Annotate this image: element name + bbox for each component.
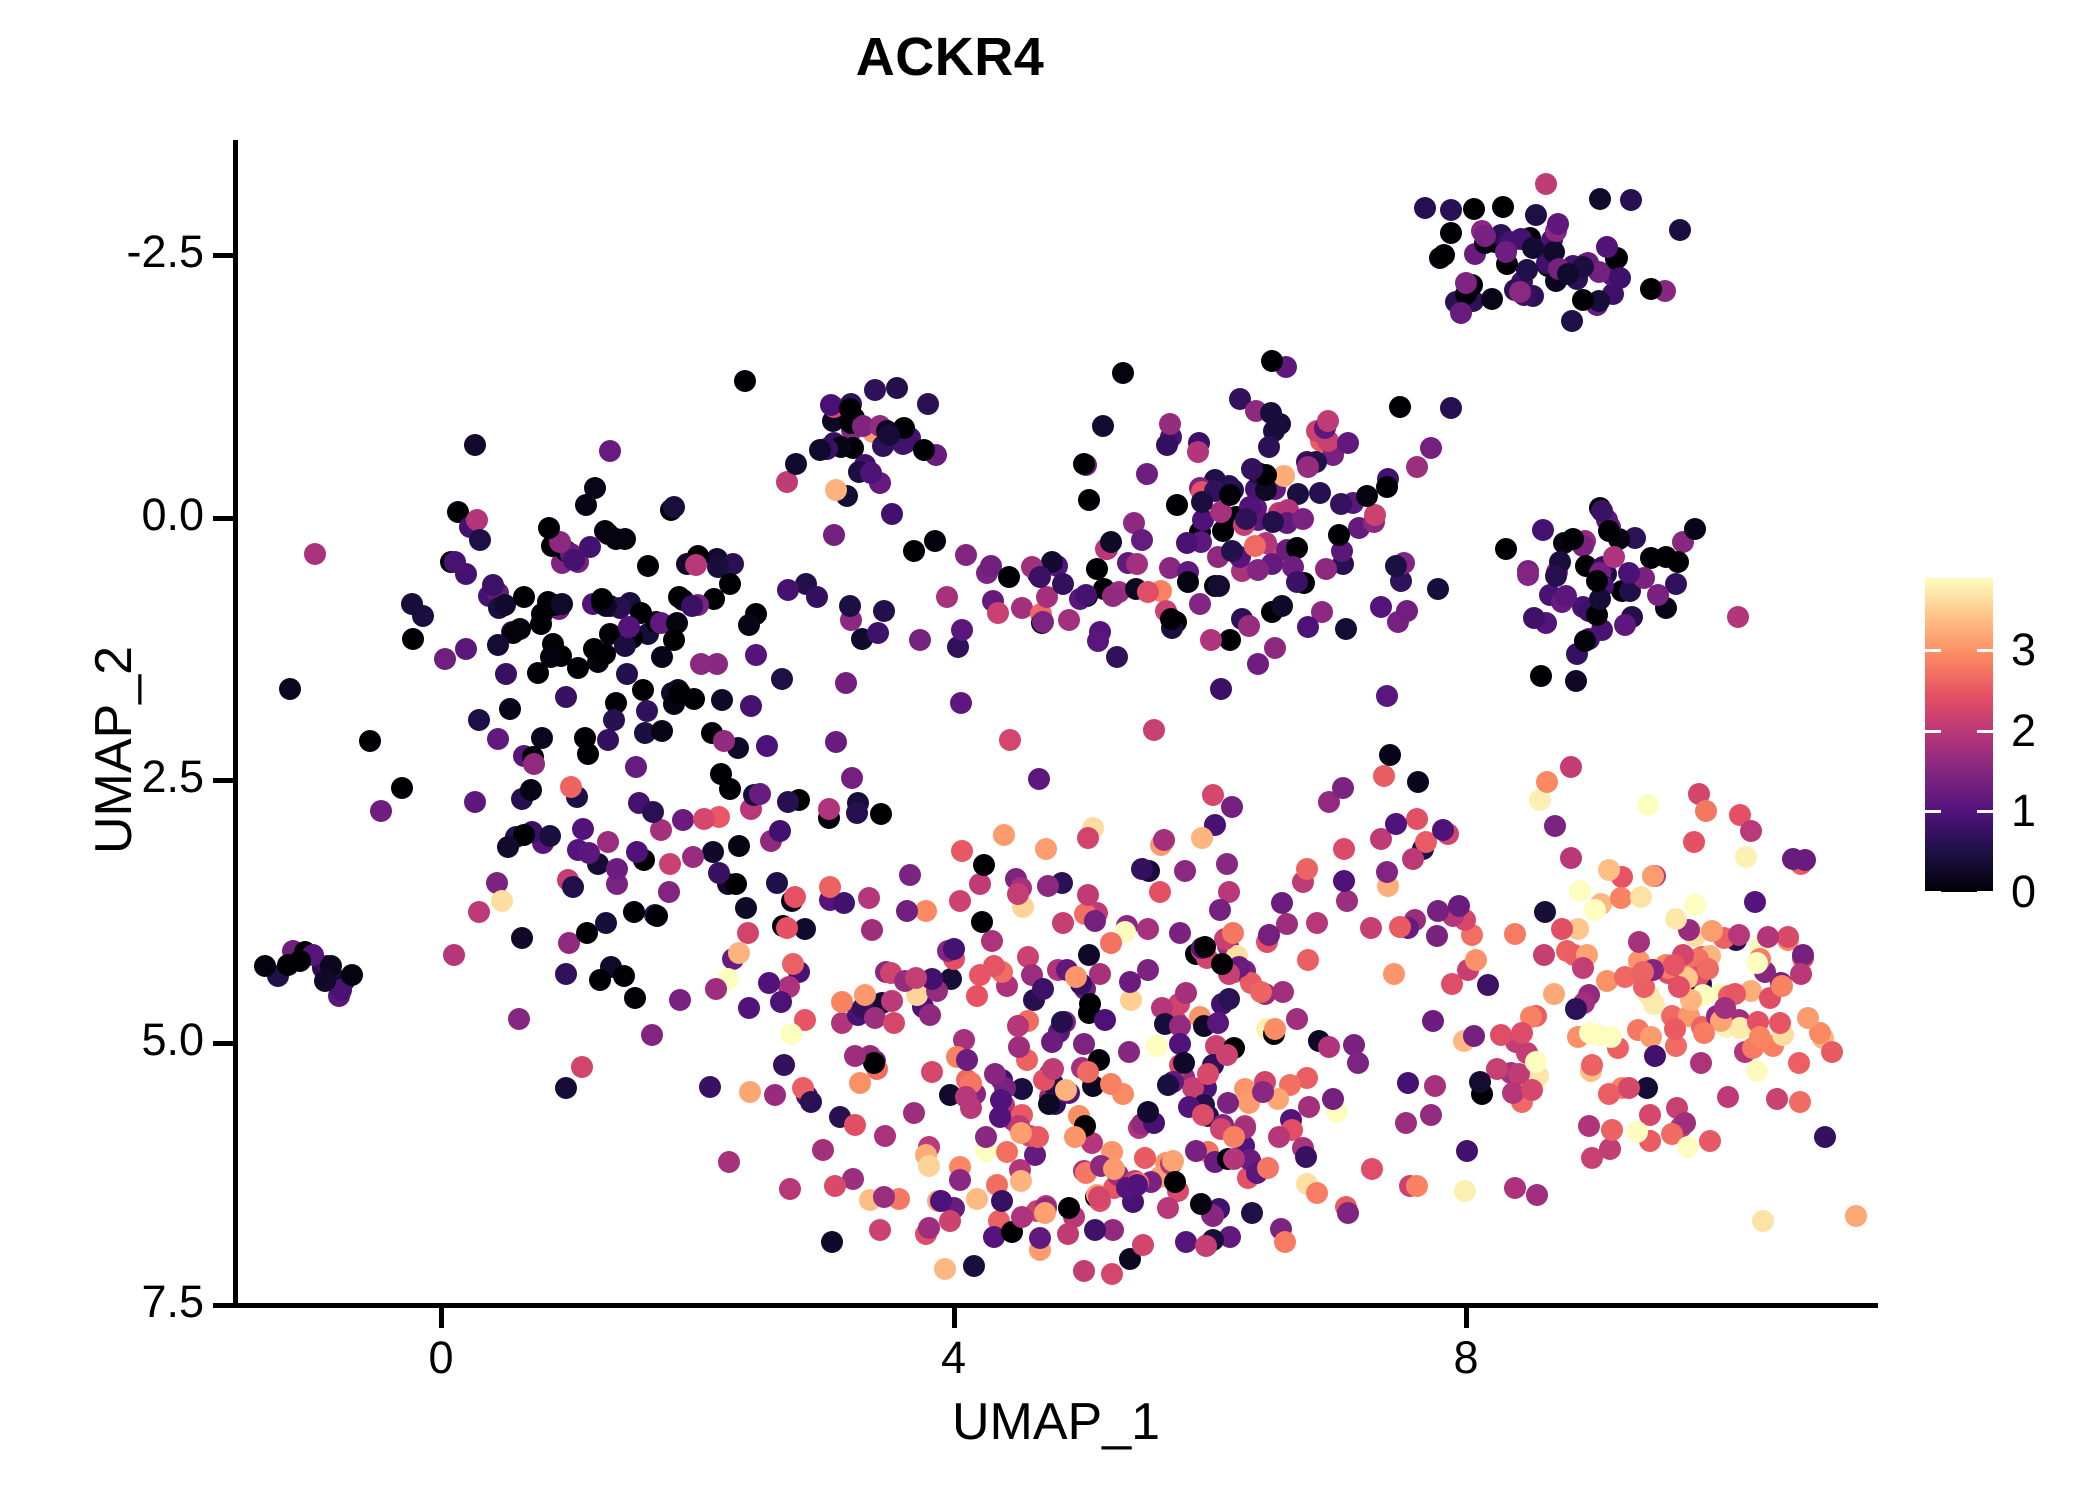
scatter-point (1055, 1079, 1077, 1101)
scatter-point (1241, 1202, 1263, 1224)
scatter-point (1433, 244, 1455, 266)
scatter-point (1735, 846, 1757, 868)
scatter-point (1078, 944, 1100, 966)
scatter-point (1058, 609, 1080, 631)
scatter-point (806, 586, 828, 608)
scatter-point (780, 1023, 802, 1045)
scatter-point (1137, 1101, 1159, 1123)
scatter-point (1545, 565, 1567, 587)
scatter-point (1297, 456, 1319, 478)
scatter-point (825, 731, 847, 753)
scatter-point (1465, 949, 1487, 971)
scatter-point (1073, 1260, 1095, 1282)
scatter-point (464, 791, 486, 813)
scatter-point (918, 1217, 940, 1239)
scatter-point (936, 586, 958, 608)
scatter-point (391, 777, 413, 799)
scatter-point (867, 622, 889, 644)
scatter-point (1532, 519, 1554, 541)
scatter-point (777, 579, 799, 601)
scatter-point (487, 728, 509, 750)
scatter-point (651, 720, 673, 742)
scatter-point (1126, 553, 1148, 575)
scatter-point (1684, 518, 1706, 540)
scatter-point (1317, 410, 1339, 432)
scatter-point (1389, 396, 1411, 418)
scatter-point (341, 964, 363, 986)
scatter-point (981, 930, 1003, 952)
scatter-point (314, 970, 336, 992)
y-tick-mark (213, 253, 233, 258)
scatter-point (1092, 415, 1114, 437)
scatter-point (951, 619, 973, 641)
y-tick-label: 5.0 (141, 1014, 204, 1066)
scatter-point (909, 629, 931, 651)
scatter-point (1360, 917, 1382, 939)
scatter-point (1244, 535, 1266, 557)
scatter-point (1495, 241, 1517, 263)
scatter-point (1523, 607, 1545, 629)
scatter-point (1504, 923, 1526, 945)
scatter-point (1271, 892, 1293, 914)
scatter-point (1100, 531, 1122, 553)
scatter-point (881, 990, 903, 1012)
colorbar-tick-label: 0 (2011, 866, 2036, 918)
scatter-point (530, 613, 552, 635)
scatter-point (1126, 1174, 1148, 1196)
scatter-point (984, 1063, 1006, 1085)
scatter-point (1159, 413, 1181, 435)
scatter-point (699, 1076, 721, 1098)
y-axis-title: UMAP_2 (84, 646, 144, 854)
scatter-point (359, 730, 381, 752)
scatter-point (663, 629, 685, 651)
scatter-point (1057, 1223, 1079, 1245)
scatter-point (919, 1004, 941, 1026)
x-tick-mark (439, 1308, 444, 1328)
scatter-point (1525, 1051, 1547, 1073)
scatter-point (1516, 259, 1538, 281)
scatter-point (1094, 1009, 1116, 1031)
y-tick-label: 0.0 (141, 489, 204, 541)
scatter-point (520, 779, 542, 801)
scatter-point (1456, 1140, 1478, 1162)
scatter-point (685, 554, 707, 576)
scatter-point (1530, 665, 1552, 687)
scatter-point (1364, 504, 1386, 526)
scatter-point (1414, 197, 1436, 219)
scatter-point (1683, 831, 1705, 853)
scatter-point (1574, 630, 1596, 652)
scatter-point (277, 954, 299, 976)
y-tick-mark (213, 1303, 233, 1308)
scatter-point (1191, 491, 1213, 513)
scatter-point (1642, 865, 1664, 887)
scatter-point (713, 730, 735, 752)
scatter-point (1084, 910, 1106, 932)
scatter-point (903, 1102, 925, 1124)
scatter-point (1087, 630, 1109, 652)
scatter-point (1561, 310, 1583, 332)
scatter-point (749, 783, 771, 805)
scatter-point (1309, 482, 1331, 504)
scatter-point (1219, 629, 1241, 651)
scatter-point (1717, 1086, 1739, 1108)
scatter-point (1257, 1157, 1279, 1179)
scatter-point (991, 1190, 1013, 1212)
scatter-point (1667, 551, 1689, 573)
scatter-point (728, 942, 750, 964)
scatter-point (464, 434, 486, 456)
scatter-point (597, 729, 619, 751)
scatter-point (1695, 800, 1717, 822)
scatter-point (870, 803, 892, 825)
scatter-point (1216, 853, 1238, 875)
scatter-point (1332, 777, 1354, 799)
scatter-point (841, 767, 863, 789)
colorbar-gradient (1925, 578, 1993, 892)
scatter-point (899, 864, 921, 886)
scatter-point (555, 963, 577, 985)
scatter-point (623, 901, 645, 923)
scatter-point (883, 1012, 905, 1034)
scatter-point (734, 370, 756, 392)
scatter-point (831, 991, 853, 1013)
colorbar-tick-mark (1977, 649, 1993, 652)
scatter-point (1789, 1091, 1811, 1113)
scatter-point (511, 927, 533, 949)
scatter-point (1463, 198, 1485, 220)
scatter-point (551, 593, 573, 615)
scatter-point (1333, 838, 1355, 860)
scatter-point (939, 1210, 961, 1232)
scatter-point (1202, 784, 1224, 806)
scatter-point (1192, 1104, 1214, 1126)
y-tick-mark (213, 1041, 233, 1046)
colorbar-tick-mark (1925, 810, 1941, 813)
scatter-point (1330, 493, 1352, 515)
scatter-point (1235, 508, 1257, 530)
scatter-point (1379, 744, 1401, 766)
scatter-point (800, 1091, 822, 1113)
scatter-point (745, 644, 767, 666)
scatter-point (1693, 1022, 1715, 1044)
scatter-point (1560, 756, 1582, 778)
scatter-point (969, 873, 991, 895)
scatter-point (779, 1178, 801, 1200)
scatter-point (818, 798, 840, 820)
x-tick-label: 0 (428, 1332, 453, 1384)
scatter-point (1586, 570, 1608, 592)
scatter-point (1007, 1015, 1029, 1037)
scatter-point (1361, 1158, 1383, 1180)
scatter-point (1782, 848, 1804, 870)
scatter-point (1134, 1147, 1156, 1169)
scatter-point (1504, 1177, 1526, 1199)
scatter-point (1052, 573, 1074, 595)
scatter-point (854, 984, 876, 1006)
scatter-point (924, 530, 946, 552)
scatter-point (1569, 880, 1591, 902)
scatter-point (1297, 949, 1319, 971)
scatter-point (1450, 302, 1472, 324)
scatter-point (577, 743, 599, 765)
scatter-point (874, 1125, 896, 1147)
scatter-point (1757, 926, 1779, 948)
scatter-point (1328, 524, 1350, 546)
scatter-point (1454, 1180, 1476, 1202)
x-tick-label: 4 (941, 1332, 966, 1384)
scatter-point (705, 978, 727, 1000)
scatter-point (1618, 562, 1640, 584)
scatter-point (835, 672, 857, 694)
scatter-point (1264, 637, 1286, 659)
scatter-point (1581, 1147, 1603, 1169)
scatter-point (1029, 566, 1051, 588)
scatter-point (539, 825, 561, 847)
scatter-point (1175, 982, 1197, 1004)
scatter-point (1620, 189, 1642, 211)
scatter-point (555, 1077, 577, 1099)
scatter-point (1766, 1088, 1788, 1110)
scatter-point (785, 453, 807, 475)
scatter-point (823, 524, 845, 546)
scatter-point (1544, 815, 1566, 837)
scatter-point (1397, 1072, 1419, 1094)
scatter-point (728, 835, 750, 857)
scatter-point (567, 657, 589, 679)
scatter-point (1250, 981, 1272, 1003)
scatter-point (637, 555, 659, 577)
scatter-point (861, 919, 883, 941)
scatter-point (560, 776, 582, 798)
scatter-point (1690, 1052, 1712, 1074)
scatter-point (1132, 1234, 1154, 1256)
scatter-point (1210, 678, 1232, 700)
scatter-point (434, 648, 456, 670)
scatter-point (738, 614, 760, 636)
scatter-point (1744, 891, 1766, 913)
scatter-point (773, 1054, 795, 1076)
scatter-point (1424, 1075, 1446, 1097)
scatter-point (740, 695, 762, 717)
scatter-point (589, 969, 611, 991)
scatter-point (1697, 958, 1719, 980)
scatter-point (998, 566, 1020, 588)
scatter-point (279, 678, 301, 700)
scatter-point (1814, 1126, 1836, 1148)
scatter-point (1143, 719, 1165, 741)
scatter-point (1103, 1158, 1125, 1180)
scatter-point (956, 1049, 978, 1071)
scatter-point (1112, 362, 1134, 384)
scatter-point (1572, 957, 1594, 979)
scatter-point (1777, 926, 1799, 948)
scatter-point (930, 1190, 952, 1212)
scatter-point (921, 1061, 943, 1083)
scatter-point (1495, 538, 1517, 560)
scatter-point (1157, 1074, 1179, 1096)
scatter-point (1223, 1148, 1245, 1170)
scatter-point (1644, 1045, 1666, 1067)
scatter-point (614, 635, 636, 657)
scatter-point (1058, 1197, 1080, 1219)
scatter-point (1175, 1231, 1197, 1253)
scatter-point (466, 509, 488, 531)
scatter-point (508, 1008, 530, 1030)
scatter-point (1469, 1071, 1491, 1093)
scatter-point (1153, 829, 1175, 851)
scatter-point (1137, 918, 1159, 940)
colorbar-tick-mark (1977, 810, 1993, 813)
scatter-point (756, 735, 778, 757)
scatter-point (1296, 858, 1318, 880)
scatter-point (771, 668, 793, 690)
scatter-point (1406, 808, 1428, 830)
scatter-point (735, 897, 757, 919)
scatter-point (1845, 1205, 1867, 1227)
x-tick-mark (952, 1308, 957, 1328)
scatter-point (572, 818, 594, 840)
scatter-point (1579, 1022, 1601, 1044)
scatter-point (849, 1072, 871, 1094)
scatter-point (1101, 1263, 1123, 1285)
scatter-point (1209, 899, 1231, 921)
scatter-point (1440, 397, 1462, 419)
scatter-point (1238, 615, 1260, 637)
scatter-point (1195, 1235, 1217, 1257)
scatter-point (1119, 971, 1141, 993)
scatter-point (1223, 1126, 1245, 1148)
scatter-point (903, 540, 925, 562)
scatter-point (846, 802, 868, 824)
feature-plot-root: ACKR4 7.55.02.50.0-2.5 048 UMAP_2 UMAP_1… (0, 0, 2100, 1500)
scatter-point (1562, 528, 1584, 550)
scatter-point (1169, 922, 1191, 944)
scatter-point (1010, 1170, 1032, 1192)
scatter-point (658, 881, 680, 903)
scatter-point (1370, 596, 1392, 618)
scatter-point (711, 689, 733, 711)
scatter-point (1272, 981, 1294, 1003)
scatter-point (1052, 912, 1074, 934)
scatter-point (659, 853, 681, 875)
scatter-point (1222, 922, 1244, 944)
scatter-point (1247, 653, 1269, 675)
y-tick-label: -2.5 (126, 226, 204, 278)
scatter-point (1247, 559, 1269, 581)
scatter-point (869, 1219, 891, 1241)
scatter-points-layer (236, 140, 1876, 1305)
scatter-point (1207, 1012, 1229, 1034)
scatter-point (690, 653, 712, 675)
scatter-point (1701, 920, 1723, 942)
scatter-point (1337, 432, 1359, 454)
scatter-point (1636, 1077, 1658, 1099)
scatter-point (1187, 441, 1209, 463)
scatter-point (999, 729, 1021, 751)
scatter-point (949, 890, 971, 912)
scatter-point (1490, 1024, 1512, 1046)
scatter-point (1626, 1121, 1648, 1143)
y-tick-label: 2.5 (141, 751, 204, 803)
scatter-point (1065, 966, 1087, 988)
scatter-point (571, 1056, 593, 1078)
scatter-point (624, 987, 646, 1009)
scatter-point (950, 692, 972, 714)
scatter-point (738, 997, 760, 1019)
scatter-point (1565, 998, 1587, 1020)
scatter-point (1637, 794, 1659, 816)
scatter-point (973, 854, 995, 876)
scatter-point (955, 544, 977, 566)
y-tick-mark (213, 516, 233, 521)
scatter-point (1628, 931, 1650, 953)
x-tick-mark (1464, 1308, 1469, 1328)
scatter-point (1385, 813, 1407, 835)
scatter-point (1517, 564, 1539, 586)
scatter-point (1322, 1088, 1344, 1110)
scatter-point (873, 600, 895, 622)
scatter-point (1034, 1202, 1056, 1224)
x-axis-title: UMAP_1 (236, 1392, 1876, 1452)
scatter-point (1146, 1035, 1168, 1057)
scatter-point (1271, 595, 1293, 617)
scatter-point (563, 549, 585, 571)
scatter-point (672, 809, 694, 831)
scatter-point (1535, 173, 1557, 195)
scatter-point (663, 496, 685, 518)
scatter-point (737, 922, 759, 944)
page-title: ACKR4 (0, 26, 1900, 88)
scatter-point (915, 900, 937, 922)
scatter-point (1089, 963, 1111, 985)
scatter-point (1383, 963, 1405, 985)
scatter-point (825, 479, 847, 501)
scatter-point (1208, 575, 1230, 597)
scatter-point (1218, 988, 1240, 1010)
scatter-point (776, 917, 798, 939)
scatter-point (1395, 1112, 1417, 1134)
scatter-point (943, 938, 965, 960)
scatter-point (1492, 196, 1514, 218)
scatter-point (886, 377, 908, 399)
scatter-point (975, 1126, 997, 1148)
scatter-point (613, 965, 635, 987)
scatter-point (370, 800, 392, 822)
y-tick-mark (213, 778, 233, 783)
scatter-point (1137, 959, 1159, 981)
scatter-point (1511, 1022, 1533, 1044)
scatter-point (1426, 925, 1448, 947)
scatter-point (1422, 1010, 1444, 1032)
scatter-point (1077, 827, 1099, 849)
scatter-point (575, 494, 597, 516)
scatter-point (949, 1169, 971, 1191)
scatter-point (702, 841, 724, 863)
scatter-point (1373, 765, 1395, 787)
scatter-point (1376, 861, 1398, 883)
scatter-point (468, 901, 490, 923)
scatter-point (1684, 894, 1706, 916)
scatter-point (1407, 771, 1429, 793)
scatter-point (1746, 1060, 1768, 1082)
scatter-point (513, 586, 535, 608)
scatter-point (1136, 463, 1158, 485)
scatter-point (1647, 584, 1669, 606)
scatter-point (858, 887, 880, 909)
scatter-point (1669, 219, 1691, 241)
